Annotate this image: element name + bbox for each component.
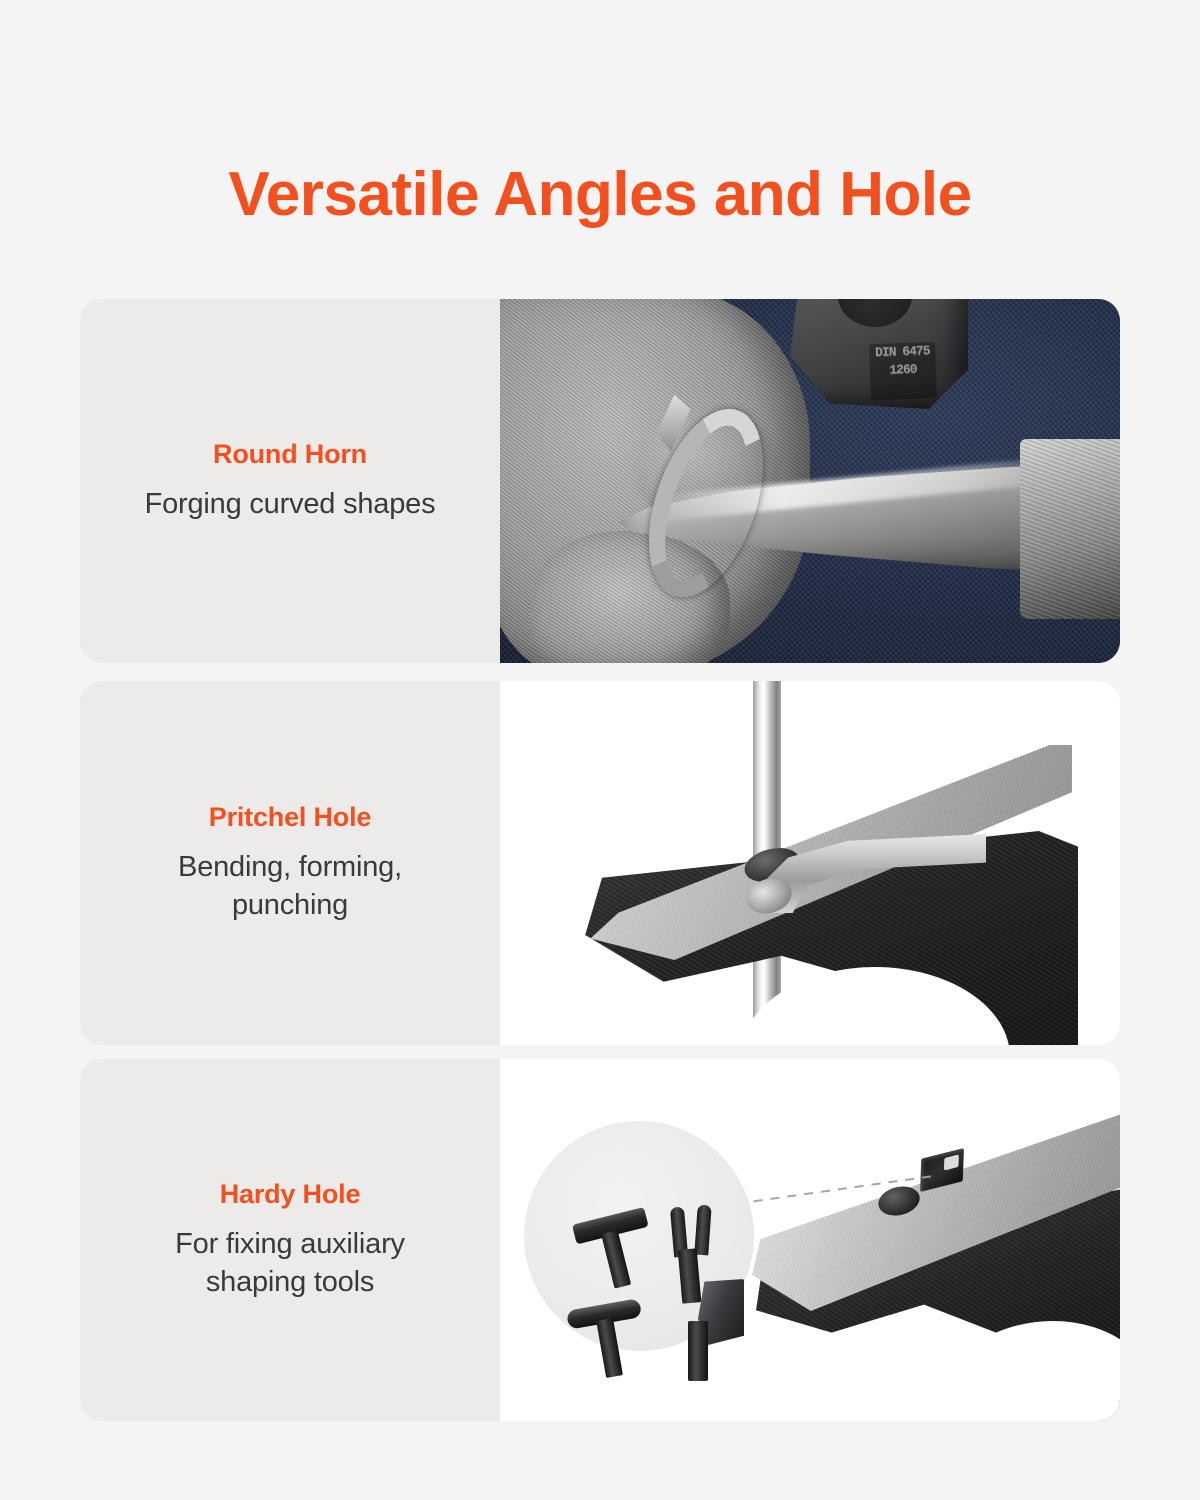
hammer-stamp-text: DIN 6475 1260 (869, 342, 937, 400)
feature-description-line: For fixing auxiliary (175, 1226, 405, 1263)
page-title: Versatile Angles and Hole (0, 162, 1200, 227)
feature-heading: Pritchel Hole (209, 802, 371, 833)
feature-description: For fixing auxiliary shaping tools (175, 1226, 405, 1300)
feature-card-pritchel-hole: Pritchel Hole Bending, forming, punching (80, 681, 1120, 1045)
feature-card-round-horn: Round Horn Forging curved shapes DIN 647… (80, 299, 1120, 663)
anvil-waist-cutout (932, 1321, 1120, 1421)
feature-card-text: Hardy Hole For fixing auxiliary shaping … (80, 1059, 500, 1421)
tool-shank (678, 1248, 702, 1303)
fork-prong (694, 1205, 711, 1256)
feature-heading: Hardy Hole (220, 1179, 361, 1210)
tool-shank (688, 1321, 708, 1381)
promo-page: Versatile Angles and Hole Round Horn For… (0, 0, 1200, 1500)
feature-description-line: Bending, forming, (178, 849, 402, 886)
feature-description: Forging curved shapes (145, 486, 436, 523)
tool-shank (601, 1230, 631, 1288)
feature-description-line: punching (178, 887, 402, 924)
feature-photo-pritchel-hole (500, 681, 1120, 1045)
feature-card-text: Round Horn Forging curved shapes (80, 299, 500, 663)
feature-photo-hardy-hole (500, 1059, 1120, 1421)
feature-card-text: Pritchel Hole Bending, forming, punching (80, 681, 500, 1045)
tool-shank (596, 1318, 623, 1378)
callout-circle (524, 1121, 754, 1351)
feature-heading: Round Horn (213, 439, 367, 470)
anvil-horn-base (1020, 439, 1120, 619)
feature-photo-round-horn: DIN 6475 1260 (500, 299, 1120, 663)
feature-description-line: shaping tools (175, 1264, 405, 1301)
feature-description: Bending, forming, punching (178, 849, 402, 923)
feature-card-hardy-hole: Hardy Hole For fixing auxiliary shaping … (80, 1059, 1120, 1421)
